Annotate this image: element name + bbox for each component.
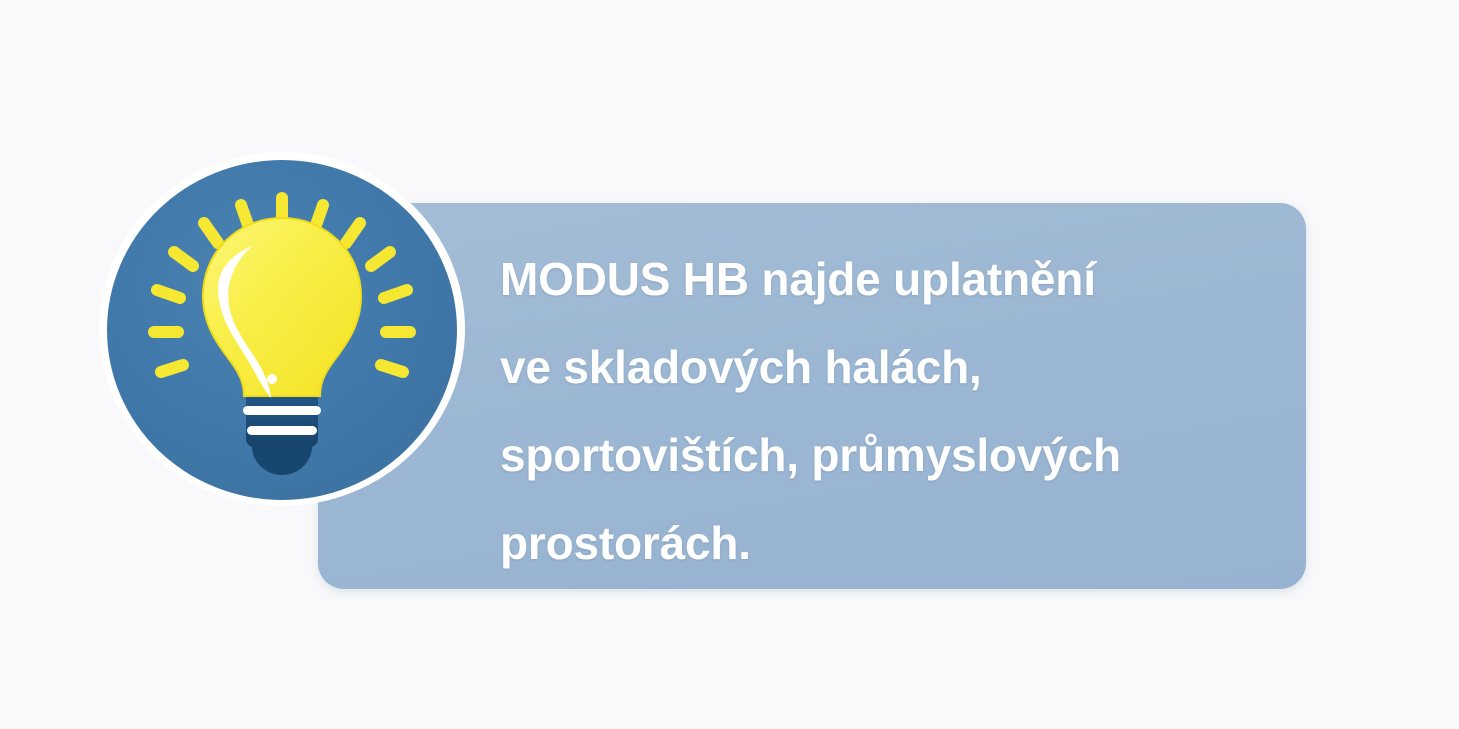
slide-canvas: MODUS HB najde uplatnění ve skladových h… bbox=[0, 0, 1459, 729]
bulb-base bbox=[243, 391, 321, 475]
bulb-highlight-dot bbox=[267, 374, 277, 384]
callout-message: MODUS HB najde uplatnění ve skladových h… bbox=[500, 235, 1280, 587]
lightbulb-badge bbox=[99, 152, 467, 508]
lightbulb-icon bbox=[107, 160, 457, 500]
